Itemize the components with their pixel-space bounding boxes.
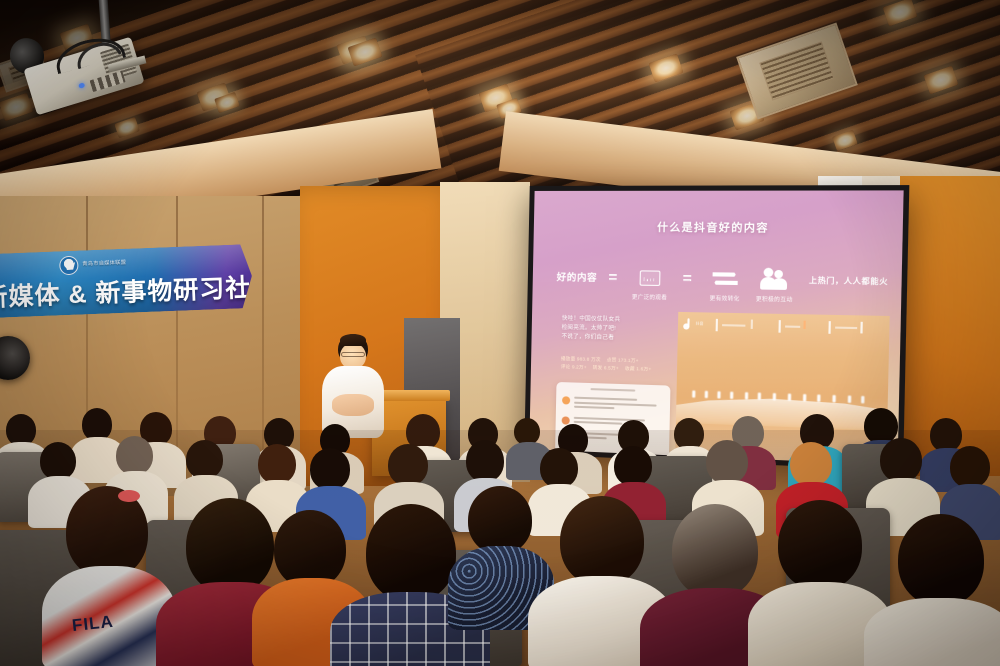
avatar — [562, 416, 570, 424]
slide-title: 什么是抖音好的内容 — [534, 219, 903, 236]
speaker-hands — [332, 394, 374, 416]
card-title-bar — [590, 388, 635, 392]
audience-member-dark-polo — [758, 500, 878, 666]
slide-equation-row: 好的内容 = 更广泛的观看 = 更有效转化 — [556, 253, 889, 305]
equation-caption-interaction: 更积极的互动 — [752, 295, 797, 304]
banner-logo-text: 青岛市自媒体联盟 — [82, 259, 126, 268]
equation-item-conversion: 更有效转化 — [703, 267, 747, 290]
stat-shares: 转发 6.5万+ — [593, 364, 619, 373]
banner-logo: 青岛市自媒体联盟 — [59, 254, 127, 276]
equation-item-interaction: 更积极的互动 — [758, 268, 790, 291]
video-overlay-marks — [705, 319, 883, 335]
douyin-watermark-label: 抖音 — [696, 321, 704, 326]
equation-caption-views: 更广泛的观看 — [622, 293, 677, 302]
people-group-icon — [758, 268, 790, 291]
chart-icon — [628, 266, 671, 289]
equation-caption-conversion: 更有效转化 — [697, 294, 754, 303]
equation-lead-label: 好的内容 — [557, 269, 598, 284]
stat-comments: 评论 9.2万+ — [561, 363, 587, 372]
projector-status-led — [78, 82, 85, 89]
association-logo-icon — [59, 256, 79, 276]
speaker-glasses — [341, 352, 365, 357]
stat-favs: 收藏 1.6万+ — [625, 365, 652, 374]
case-study-text: 快哇！中国仪仗队女兵 检阅亮流。太帅了吧! 不说了，你们自己看 — [561, 315, 659, 345]
equation-item-views: 更广泛的观看 — [628, 266, 671, 289]
speaker-hair-front — [340, 334, 366, 346]
hair-clip — [118, 490, 140, 502]
projector-buttons[interactable] — [90, 71, 126, 92]
douyin-music-note-icon — [682, 318, 692, 330]
case-study-stats: 播放量 983.8 万次 点赞 173.1万+ 评论 9.2万+ 转发 6.5万… — [561, 355, 667, 375]
seminar-photo: 青岛市自媒体联盟 新媒体 & 新事物研习社 什么是抖音好的内容 好的内容 = 更… — [0, 0, 1000, 666]
two-way-arrows-icon — [703, 267, 747, 290]
audience-member-woman-fila: FILA — [48, 486, 168, 666]
audience-member-right-edge — [872, 514, 1000, 666]
equals-sign-1: = — [608, 269, 617, 284]
event-banner: 青岛市自媒体联盟 新媒体 & 新事物研习社 — [0, 244, 253, 318]
equation-tagline: 上热门，人人都能火 — [809, 274, 889, 287]
equals-sign-2: = — [682, 270, 691, 286]
avatar — [562, 396, 570, 404]
